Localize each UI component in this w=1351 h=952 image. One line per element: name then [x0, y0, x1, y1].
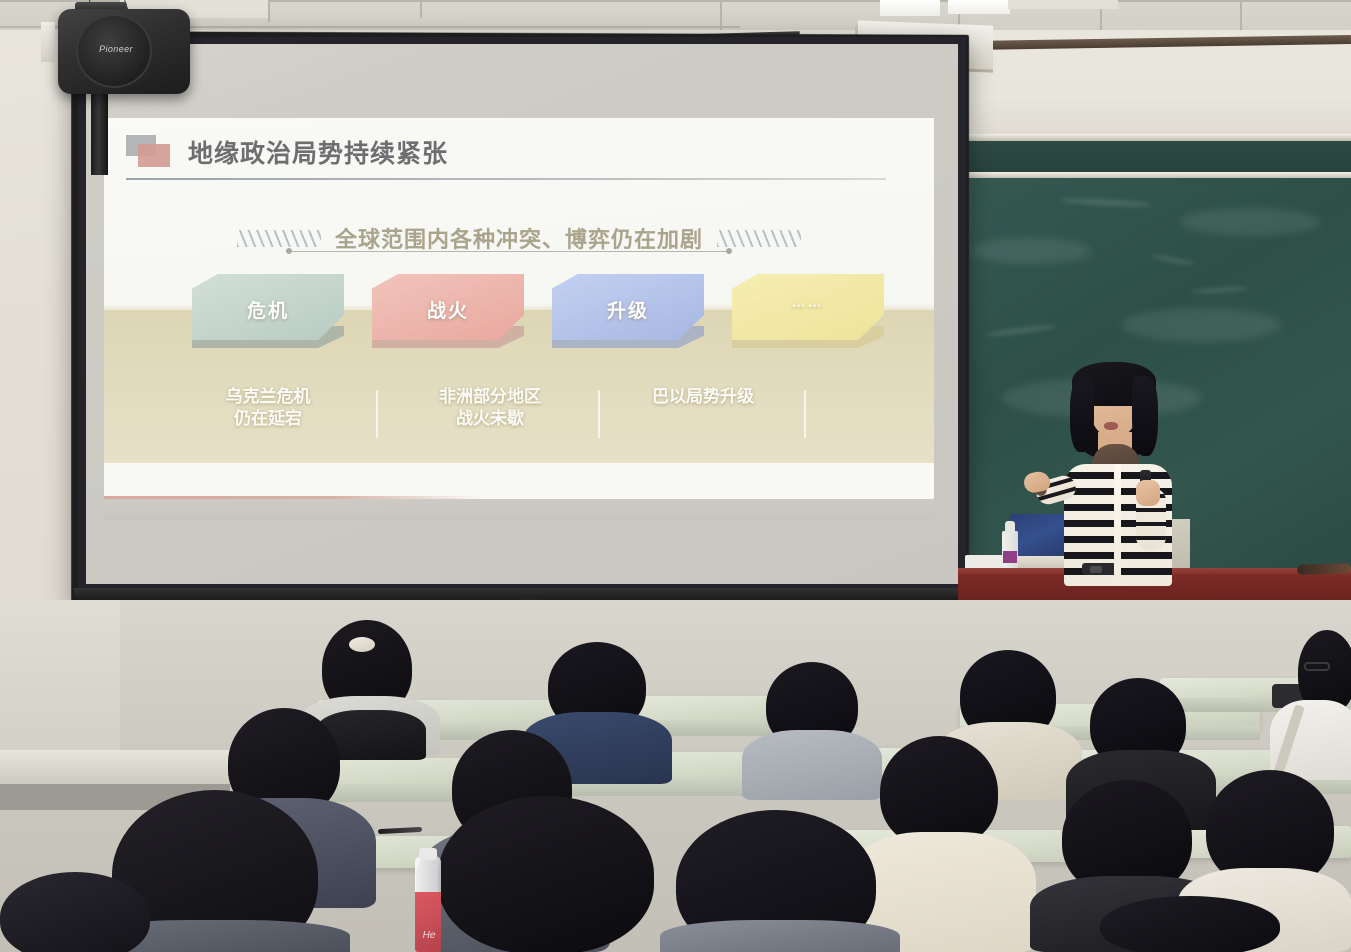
student-body-foreground: [660, 920, 900, 952]
water-bottle-label: He: [414, 930, 444, 941]
caption-1-line-1: 乌克兰危机: [164, 386, 372, 408]
slide-blocks-row: 危机 战火 升级 ……: [104, 274, 934, 384]
subtitle-dot-left-icon: [286, 248, 292, 254]
lecturer: [1036, 360, 1236, 585]
lecture-hall-photo: SHARP 地缘政治局势持续紧张 全球范围内各种冲突、博弈仍在加剧: [0, 0, 1351, 952]
speaker-mount-arm: [91, 85, 108, 175]
block-4-label: ……: [732, 296, 884, 311]
caption-divider-1: [376, 390, 378, 438]
hatch-decoration-right-icon: [717, 230, 801, 247]
slide-subtitle-row: 全球范围内各种冲突、博弈仍在加剧: [104, 222, 934, 254]
lecturer-mouth: [1104, 422, 1118, 430]
lecturer-hair-right: [1132, 376, 1158, 456]
student-body: [742, 730, 882, 800]
caption-3: 巴以局势升级: [608, 386, 798, 408]
slide-block-1: 危机: [192, 274, 344, 360]
slide-title-row: 地缘政治局势持续紧张: [126, 134, 448, 170]
slide-subtitle: 全球范围内各种冲突、博弈仍在加剧: [335, 222, 703, 254]
slide-captions-row: 乌克兰危机 仍在延宕 非洲部分地区 战火未歇 巴以局势升级: [104, 386, 934, 458]
eyeglasses-icon: [1304, 662, 1330, 671]
lecturer-right-hand: [1136, 480, 1160, 506]
title-underline-rule: [126, 178, 886, 180]
slide-block-4: ……: [732, 274, 884, 360]
caption-3-line-1: 巴以局势升级: [608, 386, 798, 408]
caption-2-line-1: 非洲部分地区: [386, 386, 594, 408]
caption-divider-2: [598, 390, 600, 438]
cardigan-button-placket: [1114, 464, 1121, 586]
chalkboard-rail-top: [941, 134, 1351, 141]
caption-2-line-2: 战火未歇: [386, 408, 594, 430]
water-bottle-cap: [419, 848, 437, 860]
slide-block-3: 升级: [552, 274, 704, 360]
water-bottle-liquid: [415, 892, 441, 952]
title-square-pink-icon: [138, 144, 170, 167]
presentation-slide: 地缘政治局势持续紧张 全球范围内各种冲突、博弈仍在加剧 危机 战火: [104, 118, 934, 520]
hand-sanitizer-label: [1003, 551, 1017, 563]
slide-block-2: 战火: [372, 274, 524, 360]
student-head-foreground: [0, 872, 150, 952]
hatch-decoration-left-icon: [237, 230, 321, 247]
wall-tag: [41, 22, 55, 62]
speaker-brand-label: Pioneer: [88, 44, 144, 54]
caption-2: 非洲部分地区 战火未歇: [386, 386, 594, 431]
caption-1: 乌克兰危机 仍在延宕: [164, 386, 372, 431]
block-3-label: 升级: [552, 296, 704, 323]
subtitle-connector-line: [289, 251, 729, 252]
lecturer-hair-left: [1070, 378, 1094, 452]
desk-pointer-stick: [1297, 563, 1351, 575]
audience-area: He: [0, 600, 1351, 952]
lecturer-belt-buckle: [1090, 566, 1102, 573]
hand-sanitizer-pump-icon: [1005, 521, 1015, 533]
slide-footer-bar: [104, 499, 934, 520]
ceiling-light: [948, 0, 1010, 14]
student-head-foreground: [438, 796, 654, 952]
platform-step: [0, 750, 230, 784]
caption-1-line-2: 仍在延宕: [164, 408, 372, 430]
left-platform-wall: [0, 600, 120, 770]
subtitle-dot-right-icon: [726, 248, 732, 254]
chalkboard-upper-panel: [941, 138, 1351, 174]
block-2-label: 战火: [372, 296, 524, 323]
ceiling-light: [880, 0, 940, 16]
caption-divider-3: [804, 390, 806, 438]
title-decoration-squares-icon: [126, 135, 172, 169]
slide-title: 地缘政治局势持续紧张: [188, 134, 448, 170]
hair-scrunchie: [349, 637, 375, 652]
block-1-label: 危机: [192, 296, 344, 323]
student-head-foreground: [1100, 896, 1280, 952]
